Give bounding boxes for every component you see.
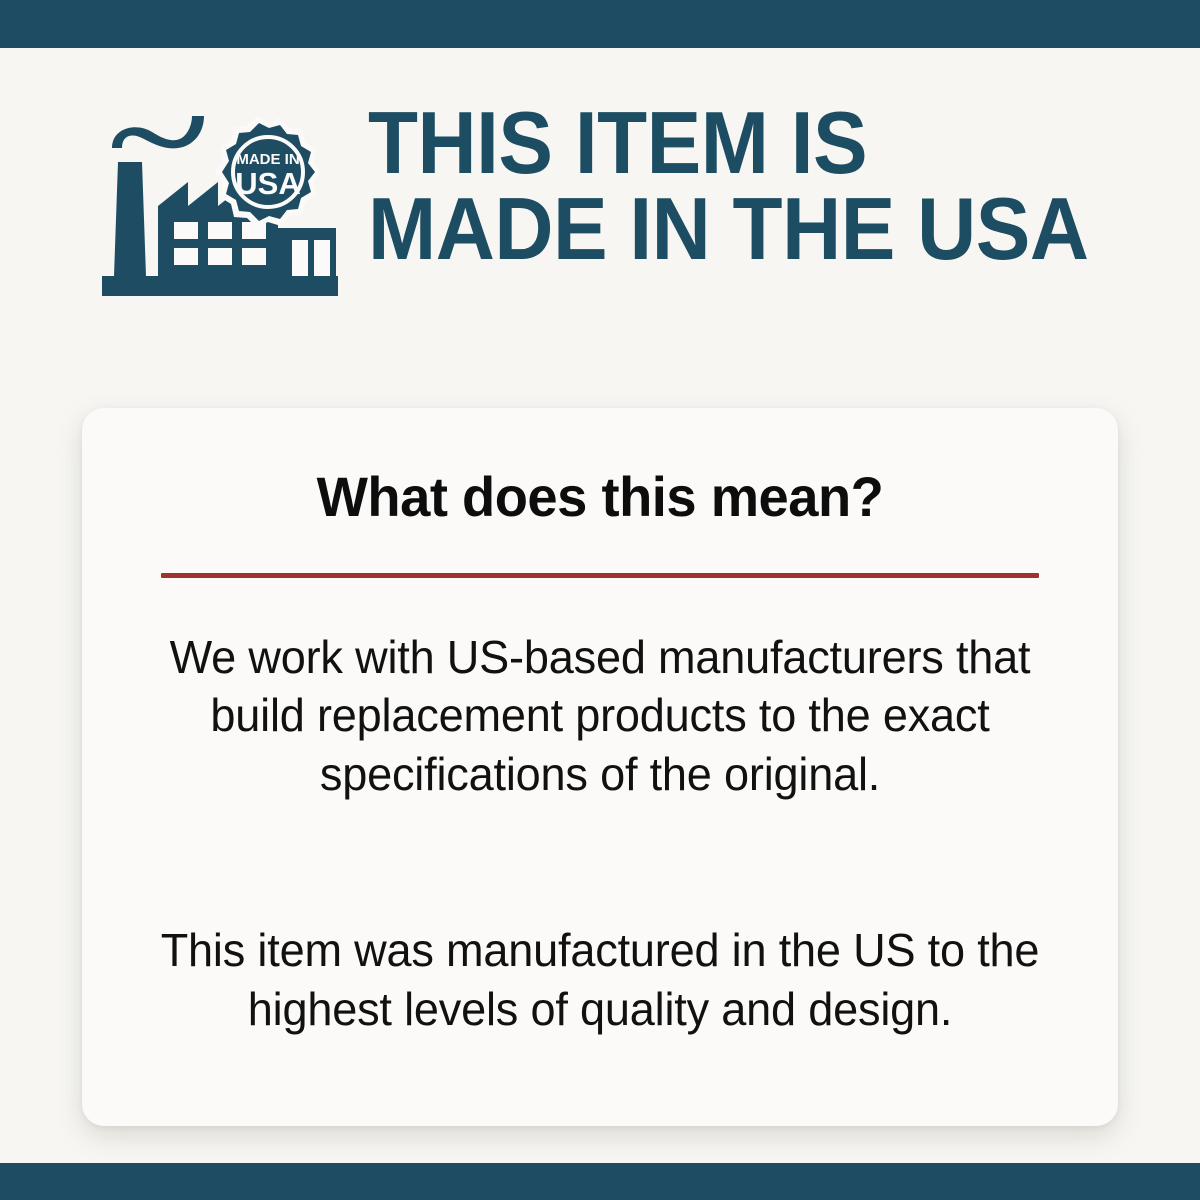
info-card: What does this mean? We work with US-bas… [82,408,1118,1126]
card-body: We work with US-based manufacturers that… [150,578,1050,1038]
factory-made-in-usa-icon: MADE IN USA [100,110,340,305]
headline-line-2: MADE IN THE USA [368,186,1089,272]
bottom-accent-bar [0,1163,1200,1200]
page-canvas: MADE IN USA THIS ITEM IS MADE IN THE USA… [0,48,1200,1163]
headline-line-1: THIS ITEM IS [368,100,1089,186]
body-paragraph-1: We work with US-based manufacturers that… [159,628,1041,803]
body-paragraph-2: This item was manufactured in the US to … [159,921,1041,1038]
header: MADE IN USA THIS ITEM IS MADE IN THE USA [100,106,1150,336]
top-accent-bar [0,0,1200,48]
page-title: THIS ITEM IS MADE IN THE USA [368,100,1089,272]
card-title: What does this mean? [98,408,1103,529]
badge-line2: USA [235,166,300,201]
